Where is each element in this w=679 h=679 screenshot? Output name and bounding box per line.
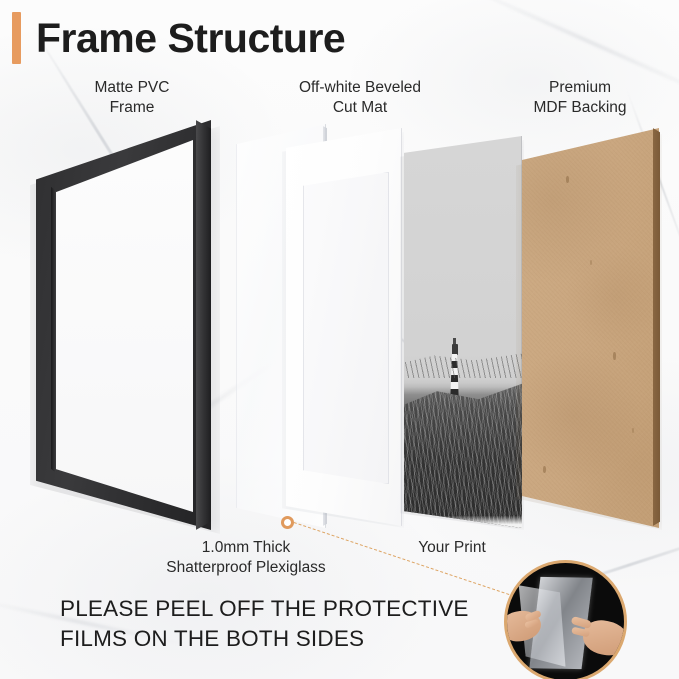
peel-instruction-line2: FILMS ON THE BOTH SIDES xyxy=(60,624,490,654)
mdf-fleck xyxy=(613,352,616,360)
mdf-fleck xyxy=(590,260,592,265)
label-beveled-cut-mat: Off-white Beveled Cut Mat xyxy=(250,78,470,118)
peel-instruction-line1: PLEASE PEEL OFF THE PROTECTIVE xyxy=(60,594,490,624)
dune-grass-tips xyxy=(404,344,522,378)
dune-grass xyxy=(404,372,522,528)
mdf-backing xyxy=(522,128,659,528)
right-hand xyxy=(580,617,627,658)
label-plexiglass: 1.0mm Thick Shatterproof Plexiglass xyxy=(118,538,374,578)
peel-instruction-prefix: FILMS ON THE xyxy=(60,626,226,651)
mdf-fleck xyxy=(566,176,569,183)
frame-opening xyxy=(54,140,193,512)
page-title: Frame Structure xyxy=(36,12,345,64)
mdf-edge xyxy=(653,122,660,532)
peel-instruction-highlighted: BOTH SIDES xyxy=(226,626,364,651)
peeling-film-photo-inset xyxy=(504,560,627,679)
label-mdf-backing: Premium MDF Backing xyxy=(495,78,665,118)
mdf-fleck xyxy=(632,428,634,433)
callout-dot xyxy=(281,516,294,529)
label-matte-pvc-frame: Matte PVC Frame xyxy=(52,78,212,118)
print-photo xyxy=(404,136,522,528)
peel-instruction: PLEASE PEEL OFF THE PROTECTIVE FILMS ON … xyxy=(60,594,490,654)
mat-window-opening xyxy=(303,172,389,484)
mdf-fleck xyxy=(543,466,546,473)
frame-inner-rebate xyxy=(51,138,56,514)
title-accent-bar xyxy=(12,12,21,64)
label-your-print: Your Print xyxy=(392,538,512,558)
lighthouse-lantern-icon xyxy=(452,344,458,355)
frame-profile-edge xyxy=(196,116,211,534)
product-infographic: Frame Structure Matte PVC Frame Off-whit… xyxy=(0,0,679,679)
